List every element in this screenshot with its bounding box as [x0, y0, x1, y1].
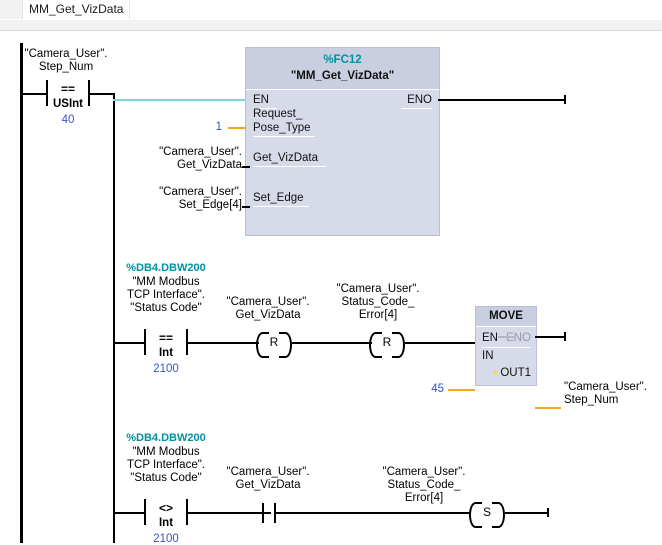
- rung3-wire-contact-to-nocontact: [186, 512, 271, 514]
- fc12-wire-request: [228, 127, 246, 129]
- move-pin-eno[interactable]: ENO: [497, 332, 531, 345]
- rung3-operand-line1: "MM Modbus: [106, 446, 226, 459]
- rung1-wire-rail-to-contact: [21, 93, 47, 95]
- rung3-wire-nocontact-to-coil: [274, 512, 471, 514]
- fc12-pin-request-underline: [253, 136, 315, 137]
- rung2-compare-value[interactable]: 2100: [140, 363, 192, 375]
- rung2-reset-coil-statuscodeerror[interactable]: R: [369, 332, 405, 354]
- power-rail: [20, 43, 23, 543]
- rung1-output-terminator: [564, 95, 566, 104]
- rung3-db-address: %DB4.DBW200: [106, 432, 226, 445]
- fc12-pin-eno-underline: [402, 108, 432, 109]
- rung2-db-address: %DB4.DBW200: [106, 262, 226, 275]
- rung2-operand-line1: "MM Modbus: [106, 276, 226, 289]
- rung2-eno-output-wire: [535, 336, 566, 338]
- rung2-coil2-label-line1: "Camera_User".: [318, 283, 438, 296]
- fc12-wire-getvizdata: [242, 166, 250, 168]
- window-title-bar: MM_Get_VizData: [0, 0, 662, 21]
- rung2-coil2-type: R: [369, 332, 405, 354]
- fc12-pin-request-line2[interactable]: Pose_Type: [253, 122, 311, 135]
- rung3-coil-type: S: [469, 502, 505, 524]
- fc12-pin-request-line1[interactable]: Request_: [253, 108, 302, 121]
- rung3-coil-label-line2: Status_Code_: [340, 479, 508, 492]
- rung3-compare-operator: <>: [144, 502, 188, 514]
- rung2-wire-branch-to-contact: [113, 342, 145, 344]
- fc12-pin-eno[interactable]: ENO: [372, 94, 432, 107]
- rung2-reset-coil-getvizdata[interactable]: R: [256, 332, 292, 354]
- fc12-block-name: "MM_Get_VizData": [246, 70, 439, 82]
- move-pin-out1[interactable]: OUT1: [495, 367, 531, 380]
- rung3-wire-coil-to-end: [505, 512, 549, 514]
- rung3-compare-value[interactable]: 2100: [140, 533, 192, 545]
- fc12-pin-getvizdata-underline: [253, 166, 326, 167]
- rung3-wire-branch-to-contact: [113, 512, 145, 514]
- fc12-pin-en[interactable]: EN: [253, 94, 269, 107]
- rung3-compare-datatype: Int: [144, 517, 188, 529]
- rung2-compare-datatype: Int: [144, 347, 188, 359]
- rung1-operand-line2: Step_Num: [6, 61, 126, 74]
- rung2-compare-operator: ==: [144, 332, 188, 344]
- rung2-output-terminator: [564, 332, 566, 341]
- move-pin-underline: [482, 347, 530, 348]
- rung2-wire-coil2-to-move: [405, 342, 475, 344]
- rung1-compare-datatype: USInt: [46, 98, 90, 110]
- move-wire-in: [448, 389, 475, 391]
- rung3-contact-label-line2[interactable]: Get_VizData: [208, 479, 328, 492]
- rung2-coil1-label-line1: "Camera_User".: [208, 296, 328, 309]
- rung1-compare-operator: ==: [46, 83, 90, 95]
- rung1-wire-contact-to-branch: [88, 93, 115, 95]
- rung2-coil1-label-line2[interactable]: Get_VizData: [208, 309, 328, 322]
- fc12-input-getvizdata-line1: "Camera_User".: [120, 146, 242, 159]
- fc12-input-request-value[interactable]: 1: [180, 121, 222, 134]
- rung1-compare-value[interactable]: 40: [46, 114, 90, 126]
- rung3-output-terminator: [547, 508, 549, 517]
- rung3-contact-label-line1: "Camera_User".: [208, 466, 328, 479]
- move-wire-out: [535, 407, 561, 409]
- move-block-title: MOVE: [476, 310, 536, 322]
- fc12-block-number: %FC12: [246, 54, 439, 66]
- rung2-wire-coil1-to-coil2: [292, 342, 372, 344]
- fc12-pin-setedge-underline: [253, 206, 309, 207]
- move-in-value[interactable]: 45: [408, 383, 444, 396]
- fc12-input-setedge-line2[interactable]: Set_Edge[4]: [120, 199, 242, 212]
- rung3-coil-label-line1: "Camera_User".: [340, 466, 508, 479]
- rung3-set-coil-statuscodeerror[interactable]: S: [469, 502, 505, 524]
- fc12-wire-setedge: [242, 206, 250, 208]
- rung1-en-wire: [113, 99, 246, 101]
- move-pin-in[interactable]: IN: [482, 350, 494, 363]
- fc12-input-setedge-line1: "Camera_User".: [120, 186, 242, 199]
- rung3-no-contact-left-bar: [262, 503, 264, 523]
- rung1-eno-output-wire: [438, 99, 566, 101]
- rung2-coil2-label-line3[interactable]: Error[4]: [318, 309, 438, 322]
- move-out-label-line2[interactable]: Step_Num: [564, 394, 662, 407]
- fc12-input-getvizdata-line2[interactable]: Get_VizData: [120, 159, 242, 172]
- move-block[interactable]: MOVE EN ENO IN * OUT1: [475, 306, 537, 386]
- title-bar-left-stub: [0, 0, 23, 19]
- ladder-canvas[interactable]: "Camera_User". Step_Num == USInt 40 %FC1…: [0, 31, 662, 544]
- move-out-label-line1: "Camera_User".: [564, 381, 662, 394]
- editor-tab-title[interactable]: MM_Get_VizData: [22, 0, 130, 19]
- fc12-pin-getvizdata[interactable]: Get_VizData: [253, 152, 318, 165]
- toolbar-strip: [0, 20, 662, 31]
- move-pin-en[interactable]: EN: [482, 332, 498, 345]
- fc12-block[interactable]: %FC12 "MM_Get_VizData" EN ENO Request_ P…: [245, 47, 440, 236]
- fc12-pin-setedge[interactable]: Set_Edge: [253, 192, 304, 205]
- rung2-coil2-label-line2: Status_Code_: [318, 296, 438, 309]
- move-en-eno-link: [498, 336, 516, 338]
- rung2-wire-contact-to-coil1: [186, 342, 259, 344]
- rung1-operand-line1: "Camera_User".: [6, 48, 126, 61]
- rung2-coil1-type: R: [256, 332, 292, 354]
